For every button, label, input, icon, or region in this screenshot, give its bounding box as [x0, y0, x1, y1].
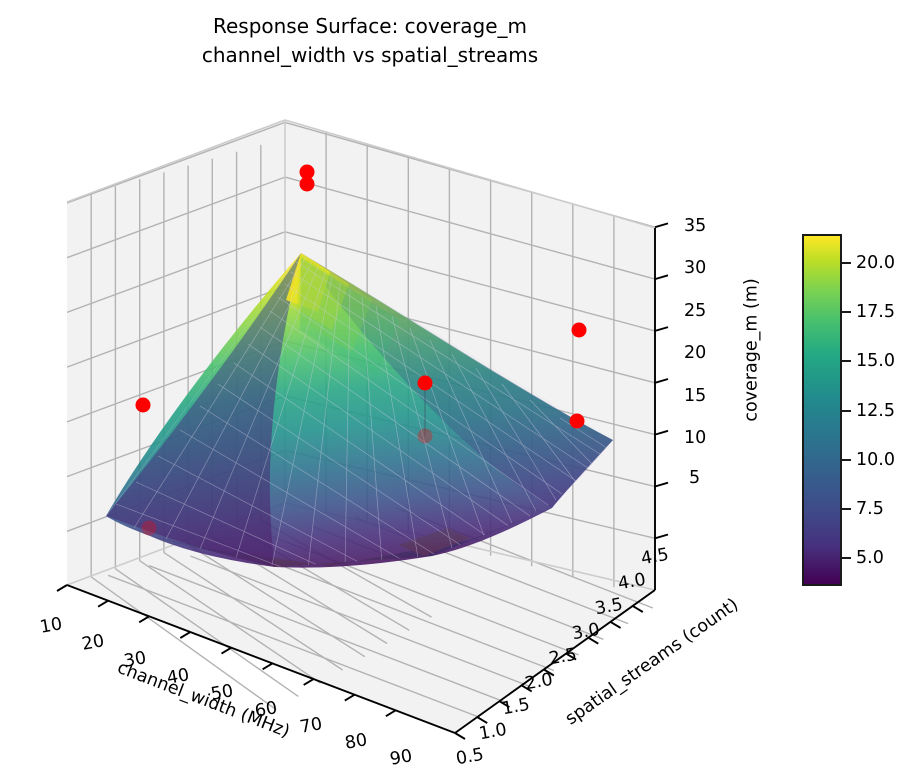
colorbar-tick [842, 459, 851, 461]
data-point-occluded [142, 521, 157, 536]
data-point [570, 414, 585, 429]
xaxis-tick-label: 10 [38, 614, 63, 638]
zaxis-tick-label: 35 [684, 216, 706, 236]
zaxis-tick-label: 25 [684, 301, 706, 321]
zaxis-tick-label: 20 [684, 343, 706, 363]
colorbar-tick [842, 262, 851, 264]
colorbar-tick-label: 17.5 [856, 302, 895, 322]
zaxis-label: coverage_m (m) [742, 278, 762, 421]
colorbar-tick-label: 12.5 [856, 401, 895, 421]
colorbar-gradient [802, 234, 842, 586]
data-point [136, 398, 151, 413]
data-point-occluded [418, 429, 433, 444]
colorbar-tick-label: 7.5 [856, 499, 884, 519]
colorbar[interactable]: 20.0 17.5 15.0 12.5 10.0 7.5 5.0 [802, 234, 842, 586]
xaxis-tick-label: 70 [298, 714, 323, 738]
colorbar-tick [842, 557, 851, 559]
xaxis-tick-label: 80 [343, 730, 368, 754]
zaxis-tick-label: 15 [684, 386, 706, 406]
data-point [572, 323, 587, 338]
colorbar-tick-label: 10.0 [856, 450, 895, 470]
colorbar-tick-label: 15.0 [856, 351, 895, 371]
colorbar-tick-label: 20.0 [856, 253, 895, 273]
xaxis-tick-label: 20 [80, 631, 105, 655]
colorbar-tick [842, 508, 851, 510]
data-point [418, 376, 433, 391]
figure-canvas: Response Surface: coverage_m channel_wid… [0, 0, 916, 775]
xaxis-tick-label: 90 [388, 746, 413, 770]
colorbar-tick-label: 5.0 [856, 548, 884, 568]
zaxis-tick-label: 10 [684, 428, 706, 448]
data-point [300, 177, 315, 192]
colorbar-tick [842, 410, 851, 412]
colorbar-tick [842, 311, 851, 313]
zaxis-tick-label: 30 [684, 258, 706, 278]
zaxis-tick-label: 5 [689, 468, 700, 488]
colorbar-tick [842, 360, 851, 362]
